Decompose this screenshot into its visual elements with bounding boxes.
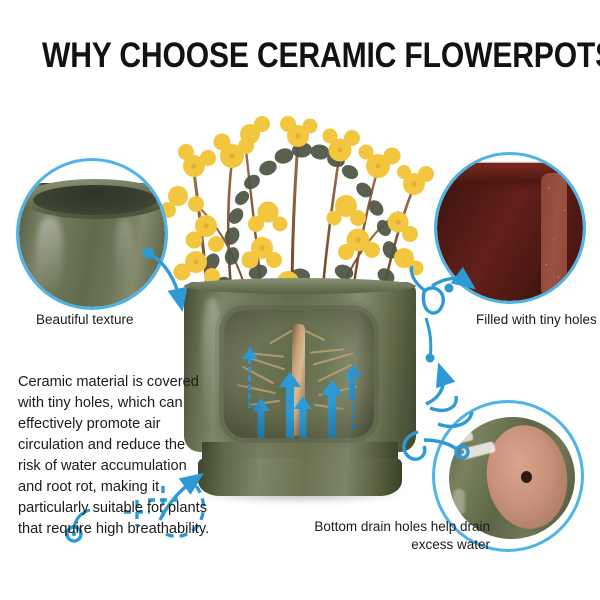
connector-drain	[404, 432, 468, 459]
caption-drain: Bottom drain holes help drain excess wat…	[300, 518, 490, 554]
connector-texture	[143, 248, 181, 301]
connector-holes	[412, 266, 467, 313]
body-paragraph: Ceramic material is covered with tiny ho…	[18, 372, 210, 540]
caption-texture: Beautiful texture	[36, 311, 226, 329]
decor-curl-right	[426, 318, 473, 426]
caption-holes: Filled with tiny holes	[476, 311, 600, 329]
infographic-canvas: WHY CHOOSE CERAMIC FLOWERPOTS	[0, 0, 600, 600]
